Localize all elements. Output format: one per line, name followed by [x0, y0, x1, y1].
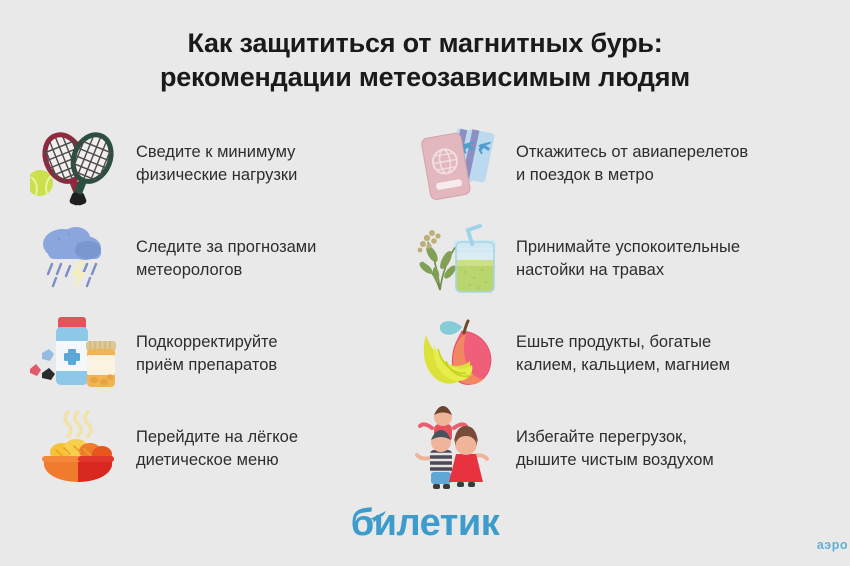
- tip-avoid-overload-breathe-fresh-air: Избегайте перегрузок, дышите чистым возд…: [410, 401, 820, 496]
- page-title: Как защититься от магнитных бурь: рекоме…: [55, 26, 795, 94]
- tip-line-2: и поездок в метро: [516, 164, 748, 187]
- tip-line-2: диетическое меню: [136, 449, 298, 472]
- tip-line-1: Принимайте успокоительные: [516, 238, 740, 256]
- tip-text: Принимайте успокоительные настойки на тр…: [516, 236, 740, 282]
- tennis-rackets-icon: [30, 121, 126, 207]
- hot-food-bowl-icon: [30, 406, 126, 492]
- fruits-icon: [410, 311, 506, 397]
- tip-follow-weather-forecasts: Следите за прогнозами метеорологов: [30, 211, 410, 306]
- tip-line-2: физические нагрузки: [136, 164, 297, 187]
- tip-avoid-flights-and-metro: Откажитесь от авиаперелетов и поездок в …: [410, 116, 820, 211]
- tip-text: Ешьте продукты, богатые калием, кальцием…: [516, 331, 730, 377]
- tip-text: Подкорректируйте приём препаратов: [136, 331, 278, 377]
- tip-eat-potassium-rich-foods: Ешьте продукты, богатые калием, кальцием…: [410, 306, 820, 401]
- tip-line-2: настойки на травах: [516, 259, 740, 282]
- children-icon: [410, 406, 506, 492]
- tip-line-1: Избегайте перегрузок,: [516, 428, 687, 446]
- tip-line-1: Перейдите на лёгкое: [136, 428, 298, 446]
- tip-text: Избегайте перегрузок, дышите чистым возд…: [516, 426, 714, 472]
- tip-line-1: Следите за прогнозами: [136, 238, 316, 256]
- tip-line-2: метеорологов: [136, 259, 316, 282]
- tip-reduce-physical-activity: Сведите к минимуму физические нагрузки: [30, 116, 410, 211]
- brand-logo[interactable]: билетик аэро: [0, 504, 850, 552]
- tip-text: Сведите к минимуму физические нагрузки: [136, 141, 297, 187]
- passport-tickets-icon: [410, 121, 506, 207]
- tip-line-1: Подкорректируйте: [136, 333, 278, 351]
- tip-line-1: Откажитесь от авиаперелетов: [516, 143, 748, 161]
- logo-wordmark-wrapper: билетик: [351, 504, 500, 542]
- tip-line-2: калием, кальцием, магнием: [516, 354, 730, 377]
- airplane-icon: [369, 493, 389, 531]
- tip-adjust-medication: Подкорректируйте приём препаратов: [30, 306, 410, 401]
- tips-grid: Сведите к минимуму физические нагрузки: [30, 116, 820, 496]
- title-line-1: Как защититься от магнитных бурь:: [55, 26, 795, 60]
- infographic-root: Как защититься от магнитных бурь: рекоме…: [0, 0, 850, 566]
- tip-light-diet-menu: Перейдите на лёгкое диетическое меню: [30, 401, 410, 496]
- logo-subtext: аэро: [817, 538, 848, 552]
- rain-cloud-icon: [30, 216, 126, 302]
- tip-herbal-sedatives: Принимайте успокоительные настойки на тр…: [410, 211, 820, 306]
- tip-text: Откажитесь от авиаперелетов и поездок в …: [516, 141, 748, 187]
- medicine-bottles-icon: [30, 311, 126, 397]
- tip-text: Перейдите на лёгкое диетическое меню: [136, 426, 298, 472]
- tip-line-1: Ешьте продукты, богатые: [516, 333, 711, 351]
- tip-text: Следите за прогнозами метеорологов: [136, 236, 316, 282]
- title-line-2: рекомендации метеозависимым людям: [55, 60, 795, 94]
- herbal-drink-icon: [410, 216, 506, 302]
- tip-line-2: дышите чистым воздухом: [516, 449, 714, 472]
- tip-line-2: приём препаратов: [136, 354, 278, 377]
- tip-line-1: Сведите к минимуму: [136, 143, 295, 161]
